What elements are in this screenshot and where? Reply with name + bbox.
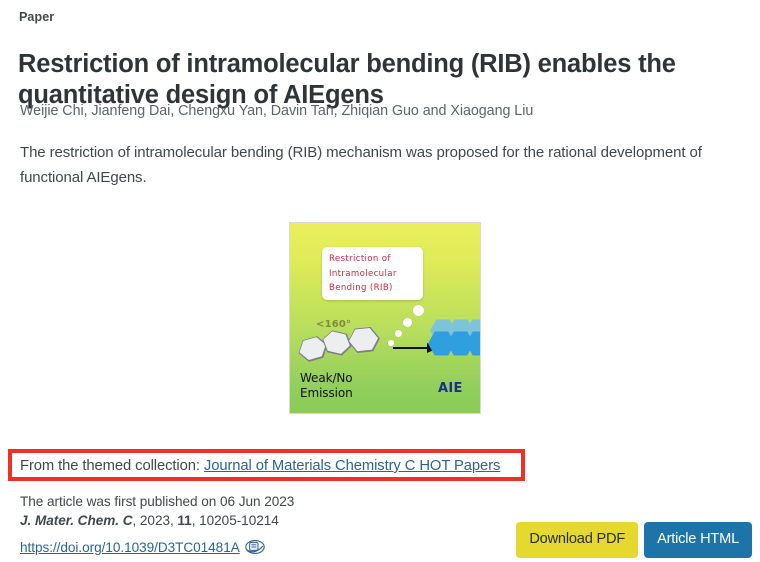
citation-pages: , 10205-10214 [192, 513, 279, 528]
callout-line-1: Restriction of [329, 252, 423, 267]
callout-line-3: Bending (RIB) [329, 281, 423, 296]
graphical-abstract[interactable]: Restriction of Intramolecular Bending (R… [289, 222, 481, 414]
author-list: Weijie Chi, Jianfeng Dai, Chengxu Yan, D… [20, 102, 720, 121]
weak-emission-line-1: Weak/No [300, 371, 353, 386]
graphical-abstract-image: Restriction of Intramolecular Bending (R… [289, 222, 481, 414]
abstract-text: The restriction of intramolecular bendin… [20, 140, 725, 190]
first-published-date: The article was first published on 06 Ju… [20, 493, 294, 511]
emission-dot-2 [403, 318, 412, 327]
aggregated-molecule-shape [428, 319, 481, 373]
callout-line-2: Intramolecular [329, 267, 423, 282]
article-html-button[interactable]: Article HTML [644, 522, 752, 558]
open-access-icon[interactable] [245, 539, 265, 555]
emission-dot-1 [413, 305, 424, 316]
aie-caption: AIE [438, 381, 463, 396]
weak-emission-caption: Weak/No Emission [300, 371, 353, 401]
emission-dot-4 [388, 340, 394, 346]
citation-line: J. Mater. Chem. C, 2023, 11, 10205-10214 [20, 512, 279, 530]
journal-name: J. Mater. Chem. C [20, 513, 132, 528]
themed-collection-row: From the themed collection: Journal of M… [20, 456, 500, 476]
content-type-label: Paper [19, 10, 54, 24]
citation-volume: 11 [177, 513, 191, 528]
themed-collection-label: From the themed collection: [20, 458, 200, 474]
weak-emission-line-2: Emission [300, 386, 353, 401]
doi-link[interactable]: https://doi.org/10.1039/D3TC01481A [20, 540, 240, 555]
themed-collection-link[interactable]: Journal of Materials Chemistry C HOT Pap… [204, 458, 500, 474]
bent-molecule-shape [298, 327, 384, 363]
download-pdf-button[interactable]: Download PDF [516, 522, 638, 558]
action-buttons: Download PDF Article HTML [516, 522, 752, 558]
article-record-page: Paper Restriction of intramolecular bend… [0, 0, 760, 562]
citation-year: , 2023, [132, 513, 177, 528]
mechanism-callout-box: Restriction of Intramolecular Bending (R… [322, 247, 423, 300]
emission-dot-3 [395, 330, 402, 337]
doi-row: https://doi.org/10.1039/D3TC01481A [20, 536, 265, 558]
